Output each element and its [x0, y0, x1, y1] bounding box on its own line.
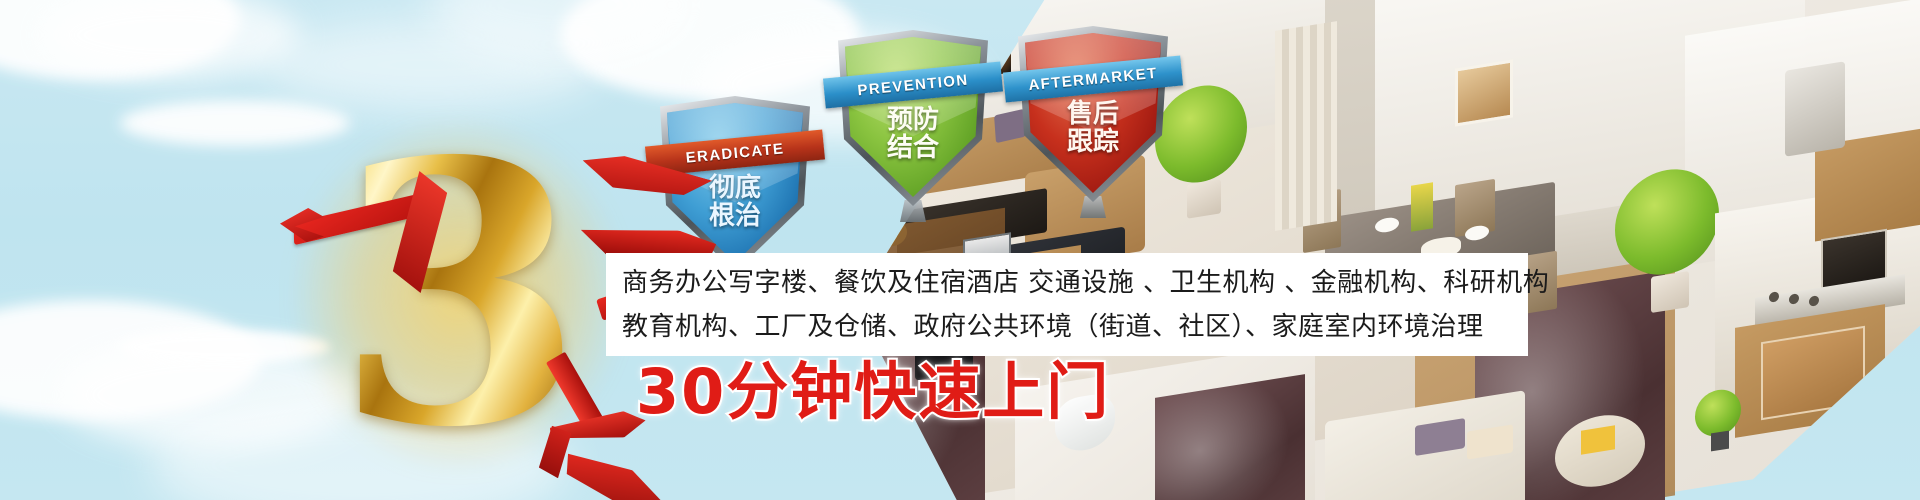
badge-chinese-line1: 售后 [1018, 100, 1168, 128]
service-scope-line-1: 商务办公写字楼、餐饮及住宿酒店 交通设施 、卫生机构 、金融机构、科研机构 [622, 261, 1512, 305]
badge-english-label: PREVENTION [857, 71, 970, 99]
badge-chinese-line2: 根治 [660, 202, 810, 230]
ribbon-arrow-tail [556, 446, 669, 500]
service-scope-line-2: 教育机构、工厂及仓储、政府公共环境（街道、社区）、家庭室内环境治理 [622, 305, 1512, 349]
ribbon-arrow-bend [538, 425, 572, 479]
service-scope-textbox: 商务办公写字楼、餐饮及住宿酒店 交通设施 、卫生机构 、金融机构、科研机构 教育… [606, 253, 1528, 356]
badge-chinese-line2: 结合 [838, 134, 988, 162]
wall-art-icon [1455, 59, 1513, 126]
curtain [1275, 21, 1337, 231]
badge-prevention: PREVENTION 预防 结合 [838, 30, 988, 206]
badge-chinese-label: 预防 结合 [838, 106, 988, 162]
badge-english-label: ERADICATE [685, 140, 785, 166]
headline-text: 30分钟快速上门 [636, 355, 1110, 429]
badge-chinese-line1: 预防 [838, 106, 988, 134]
refrigerator [1785, 61, 1845, 157]
flower-icon [1411, 182, 1433, 231]
promo-banner: ERADICATE 彻底 根治 PREVENTION 预防 结合 AFTERMA… [0, 0, 1920, 500]
badge-english-label: AFTERMARKET [1028, 64, 1159, 93]
badge-aftermarket: AFTERMARKET 售后 跟踪 [1018, 26, 1168, 202]
badge-chinese-line2: 跟踪 [1018, 128, 1168, 156]
badge-chinese-label: 售后 跟踪 [1018, 100, 1168, 156]
